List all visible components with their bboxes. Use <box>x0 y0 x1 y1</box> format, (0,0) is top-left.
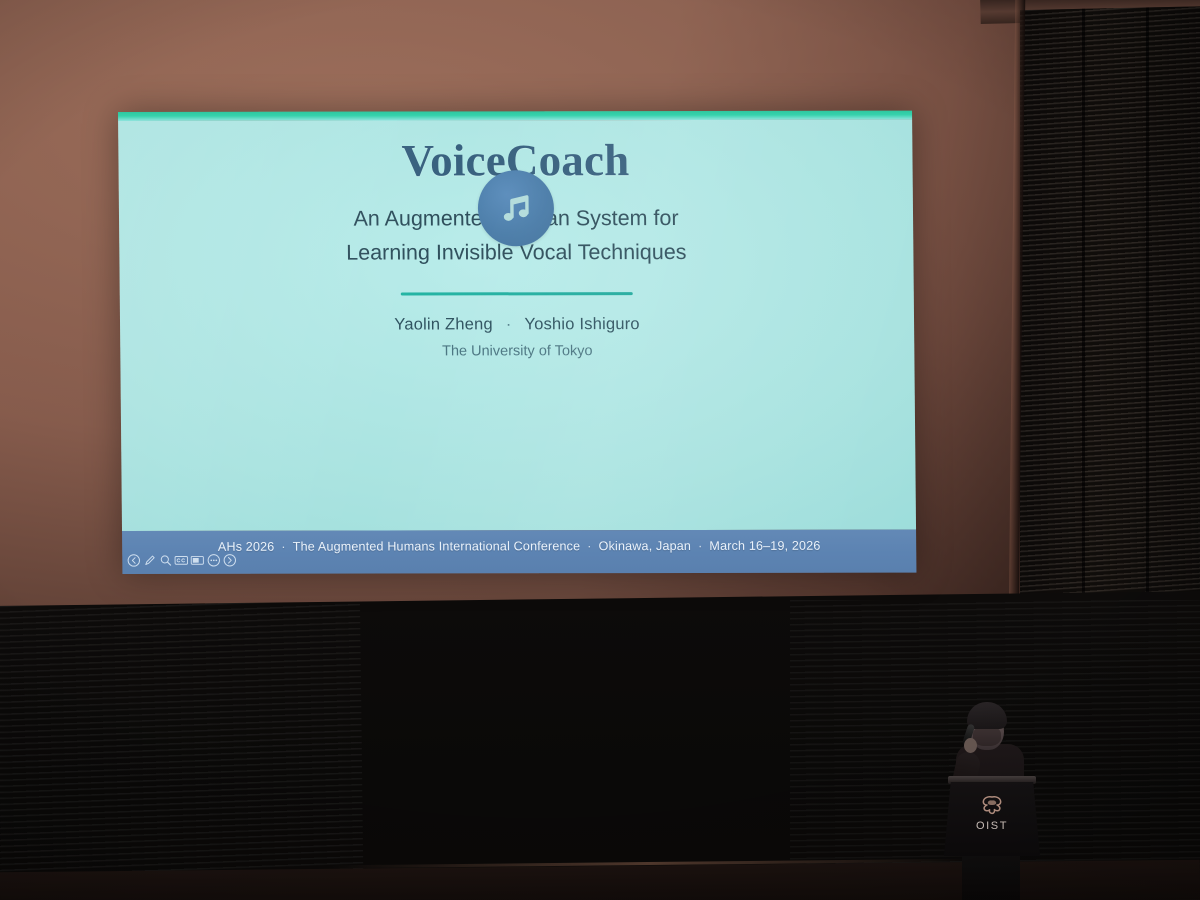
author-separator: · <box>506 315 512 334</box>
author-second: Yoshio Ishiguro <box>524 315 639 333</box>
speaker-hand <box>964 738 977 753</box>
closed-captions-icon[interactable] <box>174 553 188 567</box>
footer-conference-full: The Augmented Humans International Confe… <box>293 539 581 554</box>
arrow-left-circle-icon[interactable] <box>126 553 140 567</box>
footer-dot-3: · <box>698 538 702 552</box>
podium-base <box>962 852 1020 900</box>
presentation-slide: VoiceCoach An Augmented Human System for… <box>118 120 916 531</box>
divider <box>120 292 914 296</box>
arrow-right-circle-icon[interactable] <box>222 553 236 567</box>
projection-screen: VoiceCoach An Augmented Human System for… <box>118 111 916 574</box>
podium: OIST <box>944 782 1040 856</box>
footer-dot-1: · <box>281 539 285 553</box>
footer-conference-short: AHs 2026 <box>218 539 275 553</box>
magnifier-icon[interactable] <box>158 553 172 567</box>
screen-icon[interactable] <box>190 553 204 567</box>
slide-footer-text: AHs 2026·The Augmented Humans Internatio… <box>218 538 821 553</box>
author-first: Yaolin Zheng <box>394 315 493 333</box>
slide-footer-band: AHs 2026·The Augmented Humans Internatio… <box>122 530 916 574</box>
oist-crest-icon <box>977 794 1007 818</box>
podium-organization-label: OIST <box>976 820 1008 832</box>
pen-icon[interactable] <box>142 553 156 567</box>
footer-dot-2: · <box>587 539 591 553</box>
viewer-control-strip[interactable] <box>126 553 236 567</box>
author-list: Yaolin Zheng·Yoshio Ishiguro <box>120 315 914 335</box>
podium-branding: OIST <box>944 794 1040 832</box>
lecture-hall-photo: VoiceCoach An Augmented Human System for… <box>0 0 1200 900</box>
footer-dates: March 16–19, 2026 <box>709 538 820 552</box>
more-horizontal-circle-icon[interactable] <box>206 553 220 567</box>
music-note-icon <box>478 170 555 246</box>
slide-logo <box>119 170 914 247</box>
speaker-face-shadow <box>973 726 1001 746</box>
affiliation: The University of Tokyo <box>120 343 914 360</box>
right-wall-slat-panel <box>1020 6 1200 620</box>
footer-location: Okinawa, Japan <box>599 538 692 552</box>
stage-slat-texture-left <box>0 601 364 900</box>
